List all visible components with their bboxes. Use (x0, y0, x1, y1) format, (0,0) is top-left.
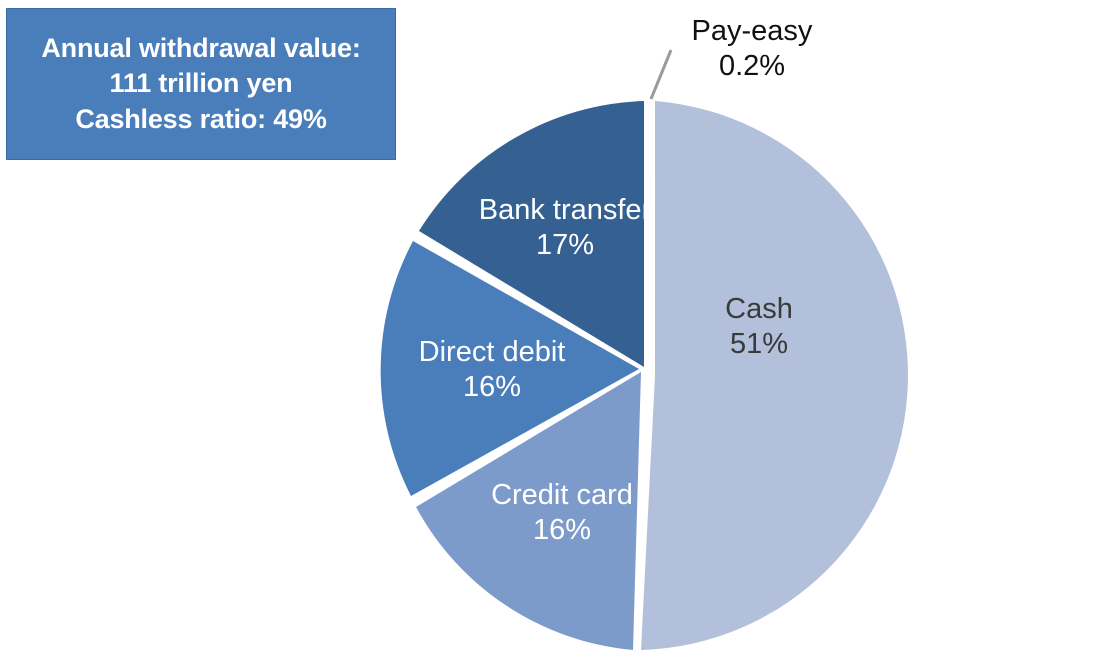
pie-slice-cash[interactable] (641, 101, 908, 650)
pay-easy-leader-line (651, 50, 671, 99)
pie-chart-svg (0, 0, 1120, 668)
pie-slice-pay-easy[interactable] (646, 101, 652, 376)
payment-method-pie-chart: Cash 51% Bank transfer 17% Direct debit … (0, 0, 1120, 668)
